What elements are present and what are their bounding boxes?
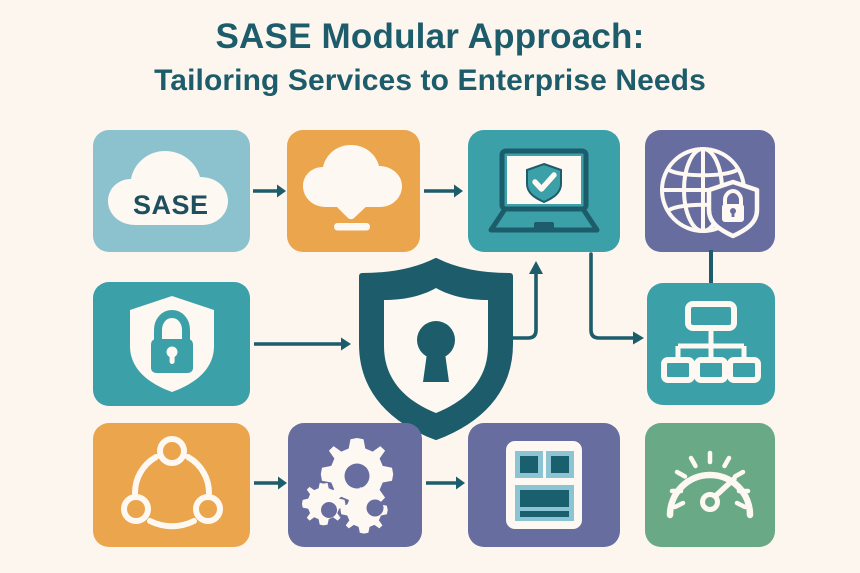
- connector-mesh-to-gears: [254, 474, 288, 492]
- page-title-line1: SASE Modular Approach:: [0, 14, 860, 60]
- page-title-line2: Tailoring Services to Enterprise Needs: [0, 60, 860, 102]
- tile-automation-gears[interactable]: [288, 423, 422, 547]
- connector-endpoint-to-hierarchy: [588, 252, 648, 347]
- connector-center-to-endpoint: [508, 258, 552, 346]
- network-share-nodes-icon: [120, 435, 224, 535]
- cloud-download-icon: [299, 141, 409, 241]
- tile-network-hierarchy[interactable]: [647, 283, 775, 405]
- connector-gears-to-dashboard: [426, 474, 466, 492]
- globe-lock-shield-icon: [655, 140, 765, 242]
- shield-keyhole-icon: [350, 258, 522, 440]
- speedometer-gauge-icon: [658, 439, 762, 531]
- tile-performance-gauge[interactable]: [645, 423, 775, 547]
- laptop-shield-check-icon: [483, 142, 605, 240]
- connector-cloud-download-to-endpoint: [424, 182, 464, 200]
- title-block: SASE Modular Approach: Tailoring Service…: [0, 14, 860, 102]
- tile-secure-endpoint[interactable]: [468, 130, 620, 252]
- infographic-canvas: SASE Modular Approach: Tailoring Service…: [0, 0, 860, 573]
- connector-sase-to-cloud-download: [253, 182, 287, 200]
- central-security-shield[interactable]: [350, 258, 522, 440]
- connector-globe-to-hierarchy: [708, 250, 714, 286]
- tile-dashboard-reporting[interactable]: [468, 423, 620, 547]
- dashboard-panels-icon: [498, 435, 590, 535]
- cloud-icon: [102, 141, 242, 241]
- tile-global-secure-access[interactable]: [645, 130, 775, 252]
- connector-shield-padlock-to-center: [254, 335, 352, 353]
- gears-icon: [299, 434, 411, 536]
- tile-cloud-download[interactable]: [287, 130, 420, 252]
- tile-data-protection[interactable]: [93, 282, 250, 406]
- tile-sase-cloud[interactable]: SASE: [93, 130, 250, 252]
- shield-padlock-icon: [124, 292, 220, 396]
- tile-network-mesh[interactable]: [93, 423, 250, 547]
- org-hierarchy-icon: [659, 298, 763, 390]
